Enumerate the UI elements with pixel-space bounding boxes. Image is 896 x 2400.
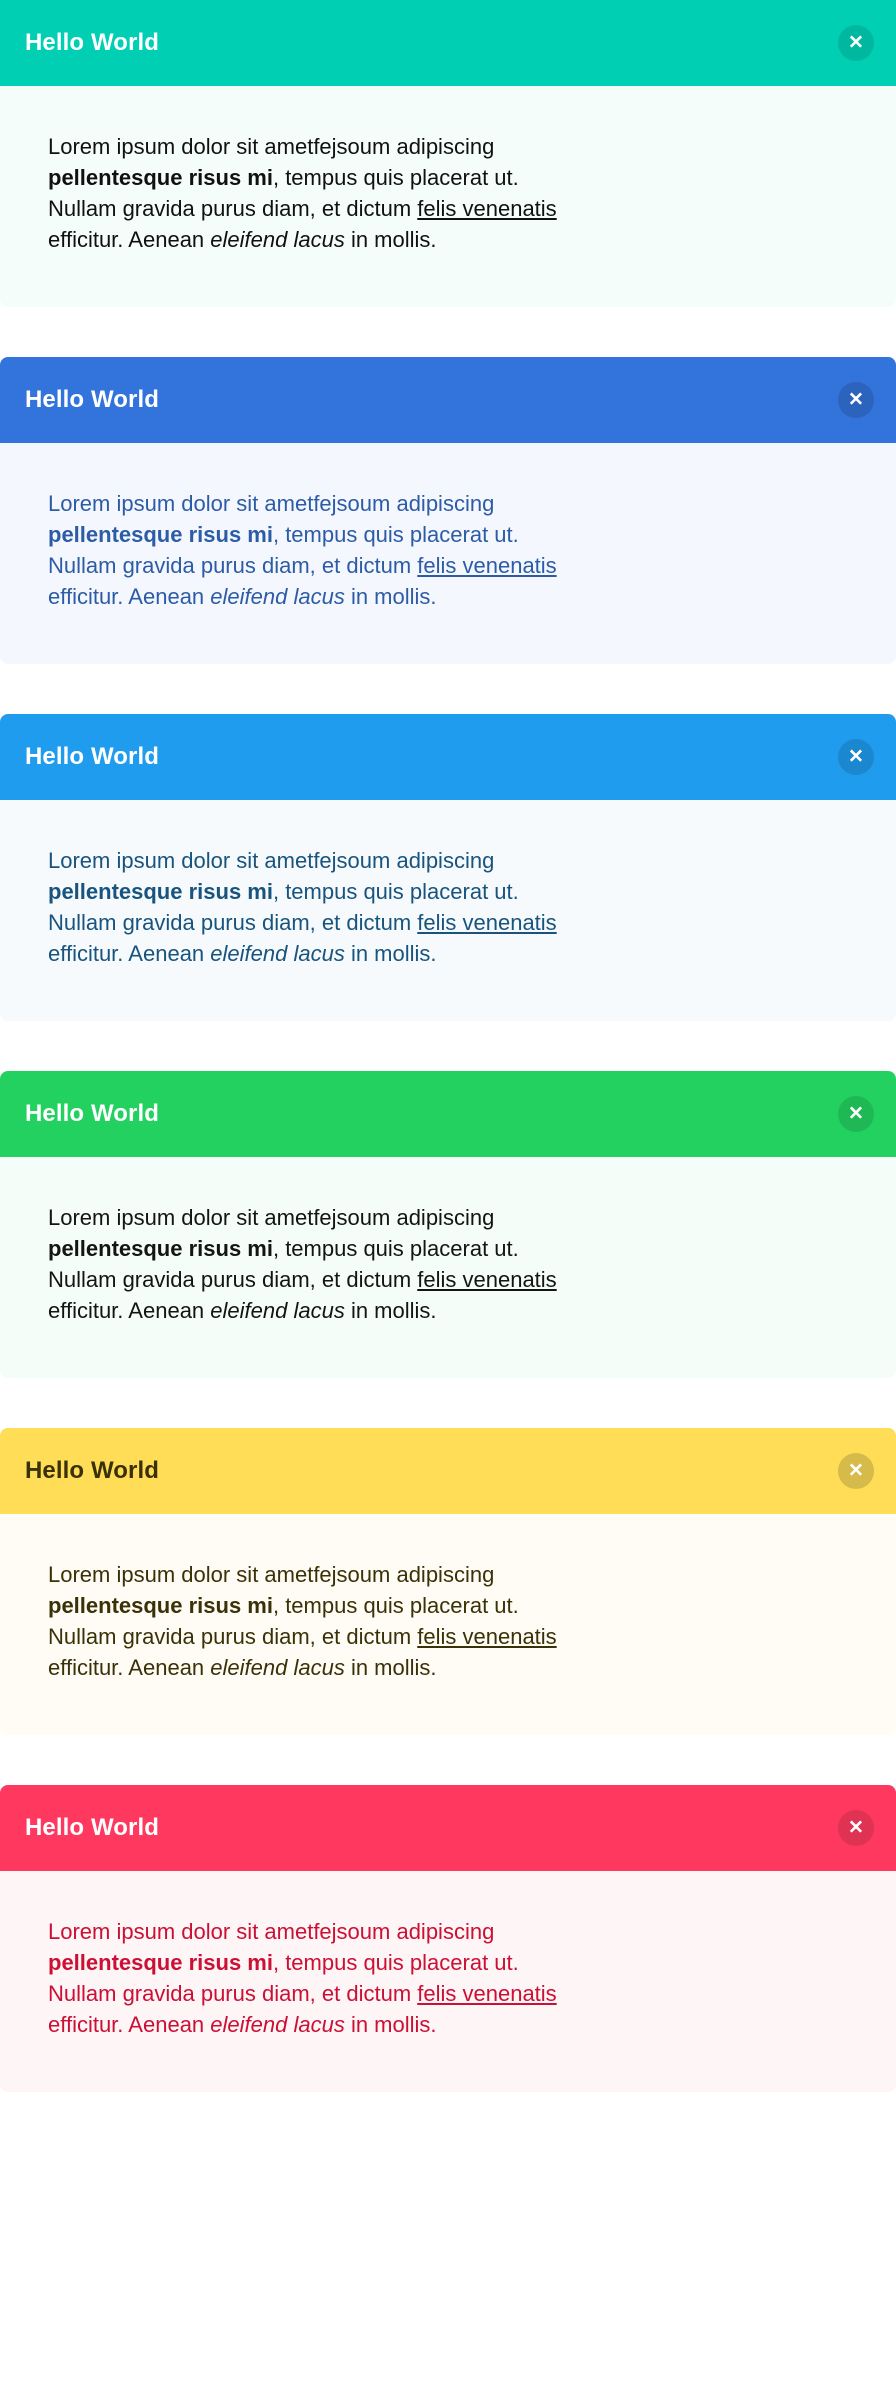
alert-card-body: Lorem ipsum dolor sit ametfejsoum adipis… xyxy=(0,86,896,307)
text-segment-1: Lorem ipsum dolor sit ametfejsoum adipis… xyxy=(48,491,494,516)
alert-card-text: Lorem ipsum dolor sit ametfejsoum adipis… xyxy=(48,488,558,612)
alert-card-header-danger-red: Hello World ✕ xyxy=(0,1785,896,1871)
close-icon[interactable]: ✕ xyxy=(838,1096,874,1132)
close-icon-glyph: ✕ xyxy=(848,1818,864,1837)
close-icon[interactable]: ✕ xyxy=(838,25,874,61)
text-segment-1: Lorem ipsum dolor sit ametfejsoum adipis… xyxy=(48,1205,494,1230)
alert-card-title: Hello World xyxy=(25,388,159,412)
text-segment-4: in mollis. xyxy=(345,1655,437,1680)
text-segment-1: Lorem ipsum dolor sit ametfejsoum adipis… xyxy=(48,1919,494,1944)
text-segment-3: efficitur. Aenean xyxy=(48,941,210,966)
text-bold: pellentesque risus mi xyxy=(48,165,273,190)
text-segment-4: in mollis. xyxy=(345,2012,437,2037)
text-segment-3: efficitur. Aenean xyxy=(48,584,210,609)
text-segment-4: in mollis. xyxy=(345,584,437,609)
text-segment-3: efficitur. Aenean xyxy=(48,1298,210,1323)
text-segment-4: in mollis. xyxy=(345,227,437,252)
alert-card-body: Lorem ipsum dolor sit ametfejsoum adipis… xyxy=(0,1514,896,1735)
felis-venenatis-link[interactable]: felis venenatis xyxy=(417,1981,556,2006)
text-segment-3: efficitur. Aenean xyxy=(48,227,210,252)
text-segment-3: efficitur. Aenean xyxy=(48,1655,210,1680)
close-icon-glyph: ✕ xyxy=(848,390,864,409)
felis-venenatis-link[interactable]: felis venenatis xyxy=(417,910,556,935)
close-icon[interactable]: ✕ xyxy=(838,382,874,418)
alert-card-teal: Hello World ✕ Lorem ipsum dolor sit amet… xyxy=(0,0,896,307)
alert-card-warning-yellow: Hello World ✕ Lorem ipsum dolor sit amet… xyxy=(0,1428,896,1735)
alert-card-text: Lorem ipsum dolor sit ametfejsoum adipis… xyxy=(48,1916,558,2040)
alert-card-text: Lorem ipsum dolor sit ametfejsoum adipis… xyxy=(48,845,558,969)
text-bold: pellentesque risus mi xyxy=(48,1593,273,1618)
alert-card-text: Lorem ipsum dolor sit ametfejsoum adipis… xyxy=(48,1559,558,1683)
felis-venenatis-link[interactable]: felis venenatis xyxy=(417,196,556,221)
alert-card-header-info-blue: Hello World ✕ xyxy=(0,714,896,800)
alert-card-title: Hello World xyxy=(25,1102,159,1126)
text-segment-1: Lorem ipsum dolor sit ametfejsoum adipis… xyxy=(48,134,494,159)
close-icon-glyph: ✕ xyxy=(848,747,864,766)
alert-card-header-teal: Hello World ✕ xyxy=(0,0,896,86)
text-segment-1: Lorem ipsum dolor sit ametfejsoum adipis… xyxy=(48,1562,494,1587)
text-bold: pellentesque risus mi xyxy=(48,522,273,547)
text-segment-1: Lorem ipsum dolor sit ametfejsoum adipis… xyxy=(48,848,494,873)
alert-card-title: Hello World xyxy=(25,1816,159,1840)
text-bold: pellentesque risus mi xyxy=(48,1236,273,1261)
alert-card-header-success-green: Hello World ✕ xyxy=(0,1071,896,1157)
alert-card-list: Hello World ✕ Lorem ipsum dolor sit amet… xyxy=(0,0,896,2092)
felis-venenatis-link[interactable]: felis venenatis xyxy=(417,553,556,578)
alert-card-body: Lorem ipsum dolor sit ametfejsoum adipis… xyxy=(0,800,896,1021)
alert-card-body: Lorem ipsum dolor sit ametfejsoum adipis… xyxy=(0,443,896,664)
alert-card-text: Lorem ipsum dolor sit ametfejsoum adipis… xyxy=(48,131,558,255)
text-bold: pellentesque risus mi xyxy=(48,879,273,904)
close-icon-glyph: ✕ xyxy=(848,33,864,52)
alert-card-title: Hello World xyxy=(25,745,159,769)
felis-venenatis-link[interactable]: felis venenatis xyxy=(417,1624,556,1649)
alert-card-info-blue: Hello World ✕ Lorem ipsum dolor sit amet… xyxy=(0,714,896,1021)
close-icon-glyph: ✕ xyxy=(848,1104,864,1123)
close-icon[interactable]: ✕ xyxy=(838,739,874,775)
alert-card-header-warning-yellow: Hello World ✕ xyxy=(0,1428,896,1514)
felis-venenatis-link[interactable]: felis venenatis xyxy=(417,1267,556,1292)
alert-card-title: Hello World xyxy=(25,31,159,55)
text-segment-4: in mollis. xyxy=(345,941,437,966)
text-segment-3: efficitur. Aenean xyxy=(48,2012,210,2037)
text-italic: eleifend lacus xyxy=(210,1655,345,1680)
close-icon-glyph: ✕ xyxy=(848,1461,864,1480)
close-icon[interactable]: ✕ xyxy=(838,1453,874,1489)
close-icon[interactable]: ✕ xyxy=(838,1810,874,1846)
alert-card-header-primary-blue: Hello World ✕ xyxy=(0,357,896,443)
text-segment-4: in mollis. xyxy=(345,1298,437,1323)
alert-card-body: Lorem ipsum dolor sit ametfejsoum adipis… xyxy=(0,1871,896,2092)
text-italic: eleifend lacus xyxy=(210,941,345,966)
text-italic: eleifend lacus xyxy=(210,584,345,609)
alert-card-danger-red: Hello World ✕ Lorem ipsum dolor sit amet… xyxy=(0,1785,896,2092)
alert-card-success-green: Hello World ✕ Lorem ipsum dolor sit amet… xyxy=(0,1071,896,1378)
text-italic: eleifend lacus xyxy=(210,2012,345,2037)
text-italic: eleifend lacus xyxy=(210,227,345,252)
alert-card-primary-blue: Hello World ✕ Lorem ipsum dolor sit amet… xyxy=(0,357,896,664)
text-italic: eleifend lacus xyxy=(210,1298,345,1323)
text-bold: pellentesque risus mi xyxy=(48,1950,273,1975)
alert-card-text: Lorem ipsum dolor sit ametfejsoum adipis… xyxy=(48,1202,558,1326)
alert-card-body: Lorem ipsum dolor sit ametfejsoum adipis… xyxy=(0,1157,896,1378)
alert-card-title: Hello World xyxy=(25,1459,159,1483)
